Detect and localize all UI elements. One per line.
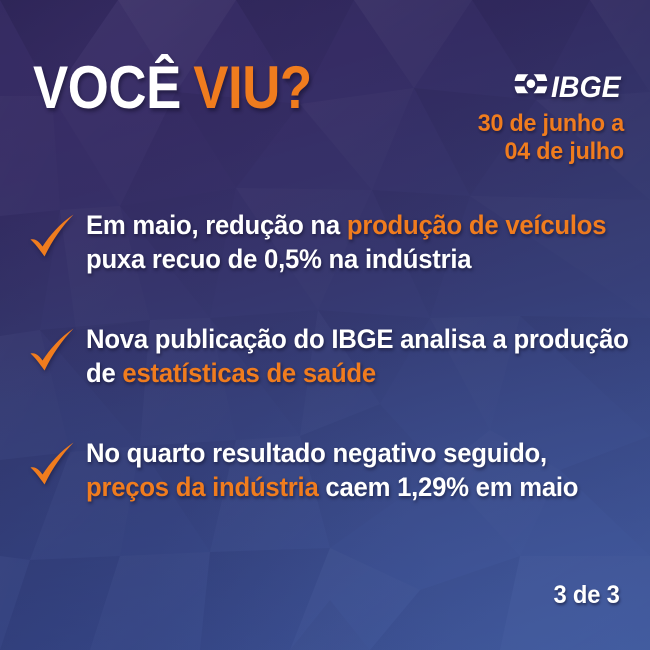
list-item-line: de estatísticas de saúde: [86, 356, 616, 390]
social-card: VOCÊVIU? IBGE 30 de junho a 04 de julh: [0, 0, 650, 650]
list-item-text: No quarto resultado negativo seguido,pre…: [86, 436, 616, 505]
page-title: VOCÊVIU?: [33, 58, 312, 118]
highlighted-phrase: produção de veículos: [347, 210, 606, 240]
list-item-text: Em maio, redução na produção de veículos…: [86, 208, 616, 277]
ibge-wordmark: IBGE: [551, 73, 621, 103]
date-range: 30 de junho a 04 de julho: [478, 110, 624, 167]
plain-phrase: Nova publicação do IBGE analisa a produç…: [86, 324, 629, 354]
headline-list: Em maio, redução na produção de veículos…: [0, 208, 650, 550]
list-item: No quarto resultado negativo seguido,pre…: [0, 436, 650, 522]
list-item-line: preços da indústria caem 1,29% em maio: [86, 470, 616, 504]
check-icon: [26, 326, 80, 380]
date-range-line-1: 30 de junho a: [478, 110, 624, 138]
plain-phrase: caem 1,29% em maio: [319, 472, 579, 502]
highlighted-phrase: preços da indústria: [86, 472, 319, 502]
brand-block: IBGE 30 de junho a 04 de julho: [470, 72, 624, 167]
plain-phrase: No quarto resultado negativo seguido,: [86, 438, 547, 468]
page-indicator: 3 de 3: [554, 581, 620, 610]
date-range-line-2: 04 de julho: [478, 138, 624, 166]
list-item-line: No quarto resultado negativo seguido,: [86, 436, 616, 470]
check-icon: [26, 440, 80, 494]
check-icon: [26, 212, 80, 266]
list-item-line: Nova publicação do IBGE analisa a produç…: [86, 322, 616, 356]
list-item-line: puxa recuo de 0,5% na indústria: [86, 242, 616, 276]
list-item-line: Em maio, redução na produção de veículos: [86, 208, 616, 242]
ibge-logo-icon: [514, 72, 548, 103]
list-item-text: Nova publicação do IBGE analisa a produç…: [86, 322, 616, 391]
plain-phrase: puxa recuo de 0,5% na indústria: [86, 244, 471, 274]
list-item: Nova publicação do IBGE analisa a produç…: [0, 322, 650, 408]
highlighted-phrase: estatísticas de saúde: [122, 358, 376, 388]
title-word-primary: VOCÊ: [33, 54, 181, 121]
ibge-logo: IBGE: [470, 72, 624, 103]
title-word-accent: VIU?: [193, 54, 312, 121]
list-item: Em maio, redução na produção de veículos…: [0, 208, 650, 294]
plain-phrase: de: [86, 358, 122, 388]
plain-phrase: Em maio, redução na: [86, 210, 347, 240]
